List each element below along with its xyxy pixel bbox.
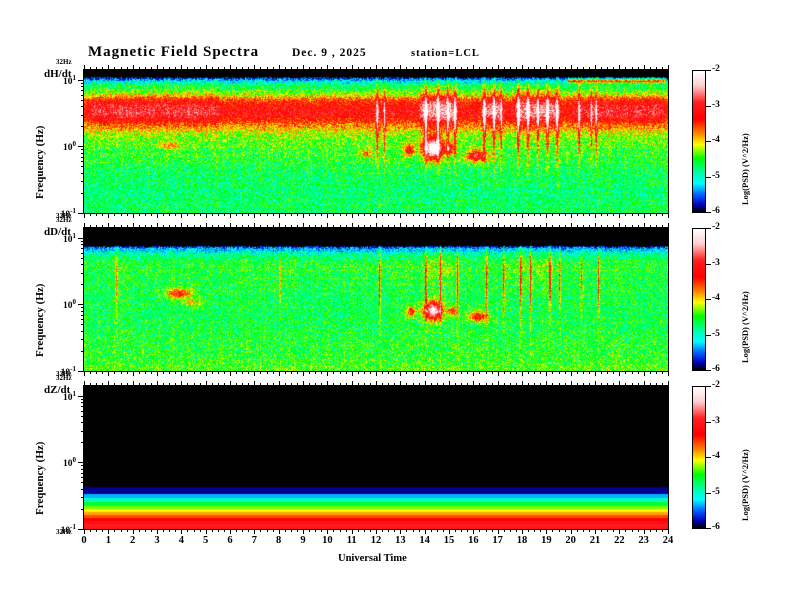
xtick-mark: [522, 65, 523, 70]
xtick-mark: [242, 213, 243, 216]
xtick-mark: [607, 67, 608, 70]
xtick-mark: [419, 67, 420, 70]
xtick-mark: [534, 225, 535, 228]
xtick-mark: [546, 223, 547, 228]
ytick-minor: [81, 95, 84, 96]
xtick-mark: [254, 213, 255, 218]
xtick-mark: [224, 67, 225, 70]
xtick-mark: [333, 383, 334, 386]
xtick-mark: [163, 225, 164, 228]
xtick-mark: [425, 223, 426, 228]
xtick-mark: [668, 65, 669, 70]
xtick-mark: [242, 529, 243, 532]
colorbar-tick-label: -2: [712, 380, 720, 390]
xtick-mark: [656, 383, 657, 386]
xtick-mark: [346, 371, 347, 374]
xtick-mark: [376, 65, 377, 70]
xtick-mark: [200, 371, 201, 374]
xtick-mark: [467, 225, 468, 228]
xtick-mark: [589, 225, 590, 228]
xtick-mark: [382, 213, 383, 216]
ytick-minor: [81, 416, 84, 417]
colorbar-tick-label: -5: [712, 329, 720, 339]
xtick-mark: [133, 381, 134, 386]
xtick-mark: [638, 213, 639, 216]
xtick-mark: [230, 65, 231, 70]
nyquist-label-dZdt-top: 32Hz: [56, 374, 72, 382]
xtick-mark: [528, 225, 529, 228]
xtick-mark: [455, 67, 456, 70]
xtick-mark: [151, 529, 152, 532]
xtick-mark: [382, 225, 383, 228]
xtick-mark: [267, 225, 268, 228]
xtick-mark: [358, 371, 359, 374]
xtick-mark: [413, 383, 414, 386]
xtick-mark: [540, 529, 541, 532]
xtick-mark: [206, 371, 207, 376]
xtick-mark: [108, 381, 109, 386]
xtick-mark: [467, 383, 468, 386]
colorbar-tick-label: -5: [712, 171, 720, 181]
ytick-minor: [81, 244, 84, 245]
xtick-mark: [625, 371, 626, 374]
xtick-mark: [595, 529, 596, 534]
xtick-mark: [169, 213, 170, 216]
ytick-minor: [81, 181, 84, 182]
xtick-mark: [528, 371, 529, 374]
xtick-mark: [656, 213, 657, 216]
xtick-label: 3: [145, 535, 169, 546]
xtick-mark: [303, 381, 304, 386]
xtick-mark: [84, 381, 85, 386]
xtick-mark: [102, 529, 103, 532]
colorbar-tick-mark: [706, 335, 711, 336]
xtick-mark: [352, 223, 353, 228]
xtick-mark: [285, 371, 286, 374]
ytick-minor: [81, 100, 84, 101]
xtick-mark: [327, 371, 328, 376]
xtick-mark: [333, 529, 334, 532]
xtick-mark: [285, 213, 286, 216]
xtick-mark: [333, 67, 334, 70]
xtick-mark: [455, 529, 456, 532]
xtick-mark: [461, 371, 462, 374]
xtick-mark: [96, 213, 97, 216]
xtick-mark: [656, 371, 657, 374]
xtick-mark: [559, 213, 560, 216]
xtick-mark: [114, 213, 115, 216]
xtick-mark: [194, 213, 195, 216]
xtick-mark: [187, 383, 188, 386]
xtick-mark: [187, 529, 188, 532]
xtick-mark: [303, 213, 304, 218]
xtick-mark: [108, 371, 109, 376]
xtick-mark: [595, 65, 596, 70]
xtick-mark: [613, 383, 614, 386]
xtick-mark: [181, 529, 182, 534]
xtick-mark: [224, 529, 225, 532]
xtick-mark: [486, 383, 487, 386]
xtick-mark: [394, 371, 395, 374]
xtick-mark: [486, 67, 487, 70]
xtick-mark: [333, 371, 334, 374]
xtick-mark: [388, 225, 389, 228]
xtick-mark: [133, 213, 134, 218]
xtick-mark: [510, 529, 511, 532]
xtick-mark: [200, 383, 201, 386]
xtick-mark: [559, 383, 560, 386]
xtick-mark: [662, 371, 663, 374]
xtick-mark: [595, 381, 596, 386]
xtick-mark: [656, 67, 657, 70]
xtick-mark: [157, 65, 158, 70]
xtick-mark: [267, 371, 268, 374]
xtick-mark: [175, 213, 176, 216]
xtick-mark: [455, 225, 456, 228]
xtick-mark: [175, 371, 176, 374]
xtick-mark: [114, 67, 115, 70]
xtick-mark: [273, 213, 274, 216]
xtick-mark: [127, 529, 128, 532]
xtick-mark: [589, 371, 590, 374]
xtick-mark: [376, 371, 377, 376]
xtick-mark: [473, 371, 474, 376]
xtick-mark: [267, 67, 268, 70]
xtick-label: 14: [413, 535, 437, 546]
xtick-mark: [206, 381, 207, 386]
ytick-minor: [78, 80, 84, 81]
ytick-minor: [81, 241, 84, 242]
xtick-mark: [370, 213, 371, 216]
xtick-mark: [291, 225, 292, 228]
xtick-mark: [595, 223, 596, 228]
xtick-mark: [169, 529, 170, 532]
xtick-mark: [479, 529, 480, 532]
xtick-mark: [571, 529, 572, 534]
xtick-mark: [479, 383, 480, 386]
xtick-mark: [352, 213, 353, 218]
xtick-mark: [346, 383, 347, 386]
ytick-label: 101: [46, 232, 76, 245]
xtick-mark: [504, 383, 505, 386]
yaxis-title-dHdt: Frequency (Hz): [34, 126, 46, 199]
xtick-mark: [425, 381, 426, 386]
xtick-mark: [619, 371, 620, 376]
xtick-mark: [510, 67, 511, 70]
xtick-mark: [309, 371, 310, 374]
colorbar-tick-label: -4: [712, 293, 720, 303]
xtick-mark: [218, 225, 219, 228]
ytick-minor: [81, 90, 84, 91]
xtick-mark: [151, 67, 152, 70]
xtick-mark: [571, 223, 572, 228]
ytick-minor: [81, 465, 84, 466]
xtick-label: 16: [461, 535, 485, 546]
xtick-mark: [443, 225, 444, 228]
xtick-mark: [133, 371, 134, 376]
xtick-mark: [492, 371, 493, 374]
xtick-mark: [504, 225, 505, 228]
xtick-mark: [242, 67, 243, 70]
xtick-mark: [625, 67, 626, 70]
xtick-mark: [151, 383, 152, 386]
xtick-mark: [273, 529, 274, 532]
xtick-mark: [206, 213, 207, 218]
ytick-minor: [81, 83, 84, 84]
xtick-mark: [248, 371, 249, 374]
colorbar-tick-mark: [706, 457, 711, 458]
xtick-mark: [510, 213, 511, 216]
xtick-mark: [668, 213, 669, 218]
xtick-mark: [492, 383, 493, 386]
ytick-minor: [81, 489, 84, 490]
xtick-mark: [437, 213, 438, 216]
xtick-mark: [364, 529, 365, 532]
ytick-minor: [81, 442, 84, 443]
xtick-mark: [364, 383, 365, 386]
xtick-mark: [273, 383, 274, 386]
ytick-minor: [81, 161, 84, 162]
xtick-mark: [139, 383, 140, 386]
xtick-mark: [619, 65, 620, 70]
xtick-mark: [376, 529, 377, 534]
xtick-mark: [546, 371, 547, 376]
xtick-mark: [504, 371, 505, 374]
xtick-label: 5: [194, 535, 218, 546]
xtick-mark: [625, 225, 626, 228]
xtick-mark: [516, 225, 517, 228]
xtick-mark: [486, 225, 487, 228]
xtick-mark: [315, 529, 316, 532]
xtick-mark: [595, 371, 596, 376]
xtick-mark: [394, 213, 395, 216]
xtick-mark: [376, 381, 377, 386]
yaxis-title-dZdt: Frequency (Hz): [34, 442, 46, 515]
xtick-mark: [516, 67, 517, 70]
xtick-label: 10: [315, 535, 339, 546]
xtick-mark: [358, 383, 359, 386]
xtick-mark: [102, 213, 103, 216]
xtick-mark: [279, 371, 280, 376]
xtick-mark: [248, 225, 249, 228]
xtick-mark: [194, 371, 195, 374]
xtick-mark: [498, 223, 499, 228]
xtick-mark: [248, 529, 249, 532]
xtick-mark: [565, 67, 566, 70]
xtick-mark: [102, 371, 103, 374]
ytick-minor: [81, 331, 84, 332]
xtick-mark: [321, 67, 322, 70]
xtick-mark: [449, 213, 450, 218]
xtick-mark: [638, 529, 639, 532]
xtick-mark: [285, 383, 286, 386]
xtick-mark: [121, 529, 122, 532]
xtick-mark: [644, 371, 645, 376]
date-label: Dec. 9 , 2025: [292, 47, 367, 59]
ytick-minor: [81, 351, 84, 352]
xtick-mark: [473, 223, 474, 228]
xtick-mark: [315, 67, 316, 70]
xtick-mark: [315, 225, 316, 228]
xtick-mark: [236, 371, 237, 374]
xtick-mark: [650, 371, 651, 374]
xtick-mark: [127, 383, 128, 386]
colorbar-dHdt: [692, 70, 706, 213]
xtick-mark: [254, 371, 255, 376]
xtick-mark: [601, 67, 602, 70]
xtick-mark: [218, 383, 219, 386]
xtick-mark: [388, 67, 389, 70]
xtick-mark: [668, 381, 669, 386]
xtick-mark: [662, 213, 663, 216]
xtick-mark: [400, 529, 401, 534]
xtick-mark: [613, 67, 614, 70]
xtick-mark: [303, 529, 304, 534]
xtick-mark: [121, 213, 122, 216]
spectrogram-figure: Magnetic Field Spectra Dec. 9 , 2025 sta…: [0, 0, 792, 612]
xtick-mark: [157, 213, 158, 218]
xtick-mark: [279, 529, 280, 534]
xtick-mark: [467, 529, 468, 532]
xtick-mark: [431, 213, 432, 216]
xtick-mark: [437, 383, 438, 386]
xtick-mark: [84, 213, 85, 218]
colorbar-tick-label: -3: [712, 100, 720, 110]
xtick-mark: [632, 213, 633, 216]
xtick-mark: [461, 213, 462, 216]
xtick-mark: [370, 225, 371, 228]
ytick-minor: [81, 86, 84, 87]
ytick-minor: [81, 431, 84, 432]
ytick-minor: [81, 477, 84, 478]
xtick-mark: [333, 225, 334, 228]
xtick-mark: [638, 371, 639, 374]
yaxis-title-dDdt: Frequency (Hz): [34, 284, 46, 357]
xtick-mark: [644, 381, 645, 386]
xtick-mark: [601, 213, 602, 216]
xtick-mark: [346, 225, 347, 228]
ytick-minor: [81, 248, 84, 249]
xtick-label: 6: [218, 535, 242, 546]
ytick-minor: [81, 273, 84, 274]
xtick-mark: [236, 213, 237, 216]
xtick-mark: [467, 371, 468, 374]
ytick-minor: [78, 238, 84, 239]
xtick-mark: [175, 67, 176, 70]
xtick-mark: [181, 213, 182, 218]
xtick-mark: [534, 67, 535, 70]
xtick-mark: [565, 213, 566, 216]
colorbar-tick-mark: [706, 177, 711, 178]
xtick-mark: [327, 213, 328, 218]
xtick-mark: [486, 371, 487, 374]
xtick-mark: [583, 225, 584, 228]
xtick-mark: [534, 383, 535, 386]
xtick-mark: [364, 213, 365, 216]
xtick-mark: [139, 67, 140, 70]
xtick-mark: [285, 67, 286, 70]
xtick-mark: [650, 67, 651, 70]
xtick-mark: [254, 223, 255, 228]
xtick-mark: [400, 381, 401, 386]
xtick-mark: [273, 225, 274, 228]
xtick-mark: [145, 213, 146, 216]
xtick-mark: [108, 65, 109, 70]
ytick-minor: [81, 402, 84, 403]
colorbar-tick-label: -2: [712, 222, 720, 232]
xtick-mark: [382, 67, 383, 70]
xtick-label: 22: [607, 535, 631, 546]
xtick-mark: [340, 213, 341, 216]
xtick-mark: [346, 67, 347, 70]
xtick-mark: [449, 65, 450, 70]
xtick-mark: [461, 225, 462, 228]
xtick-mark: [212, 67, 213, 70]
xtick-mark: [297, 371, 298, 374]
xtick-mark: [571, 213, 572, 218]
xtick-mark: [510, 383, 511, 386]
xtick-mark: [650, 383, 651, 386]
xtick-mark: [163, 213, 164, 216]
xtick-mark: [151, 371, 152, 374]
xtick-label: 8: [267, 535, 291, 546]
xtick-mark: [577, 225, 578, 228]
xtick-mark: [492, 225, 493, 228]
xtick-mark: [200, 213, 201, 216]
xtick-mark: [114, 371, 115, 374]
xtick-mark: [327, 381, 328, 386]
xtick-mark: [297, 67, 298, 70]
xtick-mark: [84, 223, 85, 228]
colorbar-canvas-dZdt: [693, 387, 705, 528]
colorbar-dZdt: [692, 386, 706, 529]
xtick-mark: [662, 529, 663, 532]
xtick-mark: [419, 225, 420, 228]
xtick-mark: [510, 371, 511, 374]
xtick-mark: [133, 65, 134, 70]
xtick-mark: [84, 371, 85, 376]
xtick-mark: [114, 383, 115, 386]
xtick-label: 19: [534, 535, 558, 546]
xtick-mark: [315, 213, 316, 216]
xtick-mark: [577, 371, 578, 374]
page-title: Magnetic Field Spectra: [88, 44, 259, 61]
xtick-mark: [145, 67, 146, 70]
xtick-mark: [632, 67, 633, 70]
xtick-mark: [583, 67, 584, 70]
xtick-mark: [309, 213, 310, 216]
colorbar-tick-mark: [706, 264, 711, 265]
xtick-mark: [242, 371, 243, 374]
xtick-mark: [406, 383, 407, 386]
xtick-mark: [200, 225, 201, 228]
xtick-mark: [498, 381, 499, 386]
xtick-mark: [632, 529, 633, 532]
xtick-mark: [644, 223, 645, 228]
colorbar-tick-mark: [706, 386, 711, 387]
spectrogram-canvas-dDdt: [84, 228, 668, 371]
xtick-mark: [248, 67, 249, 70]
xtick-mark: [267, 213, 268, 216]
xtick-mark: [102, 225, 103, 228]
xtick-mark: [619, 381, 620, 386]
ytick-label: 100: [46, 298, 76, 311]
xtick-mark: [528, 213, 529, 216]
xtick-mark: [370, 383, 371, 386]
ytick-minor: [81, 153, 84, 154]
xtick-mark: [388, 213, 389, 216]
xtick-mark: [455, 371, 456, 374]
